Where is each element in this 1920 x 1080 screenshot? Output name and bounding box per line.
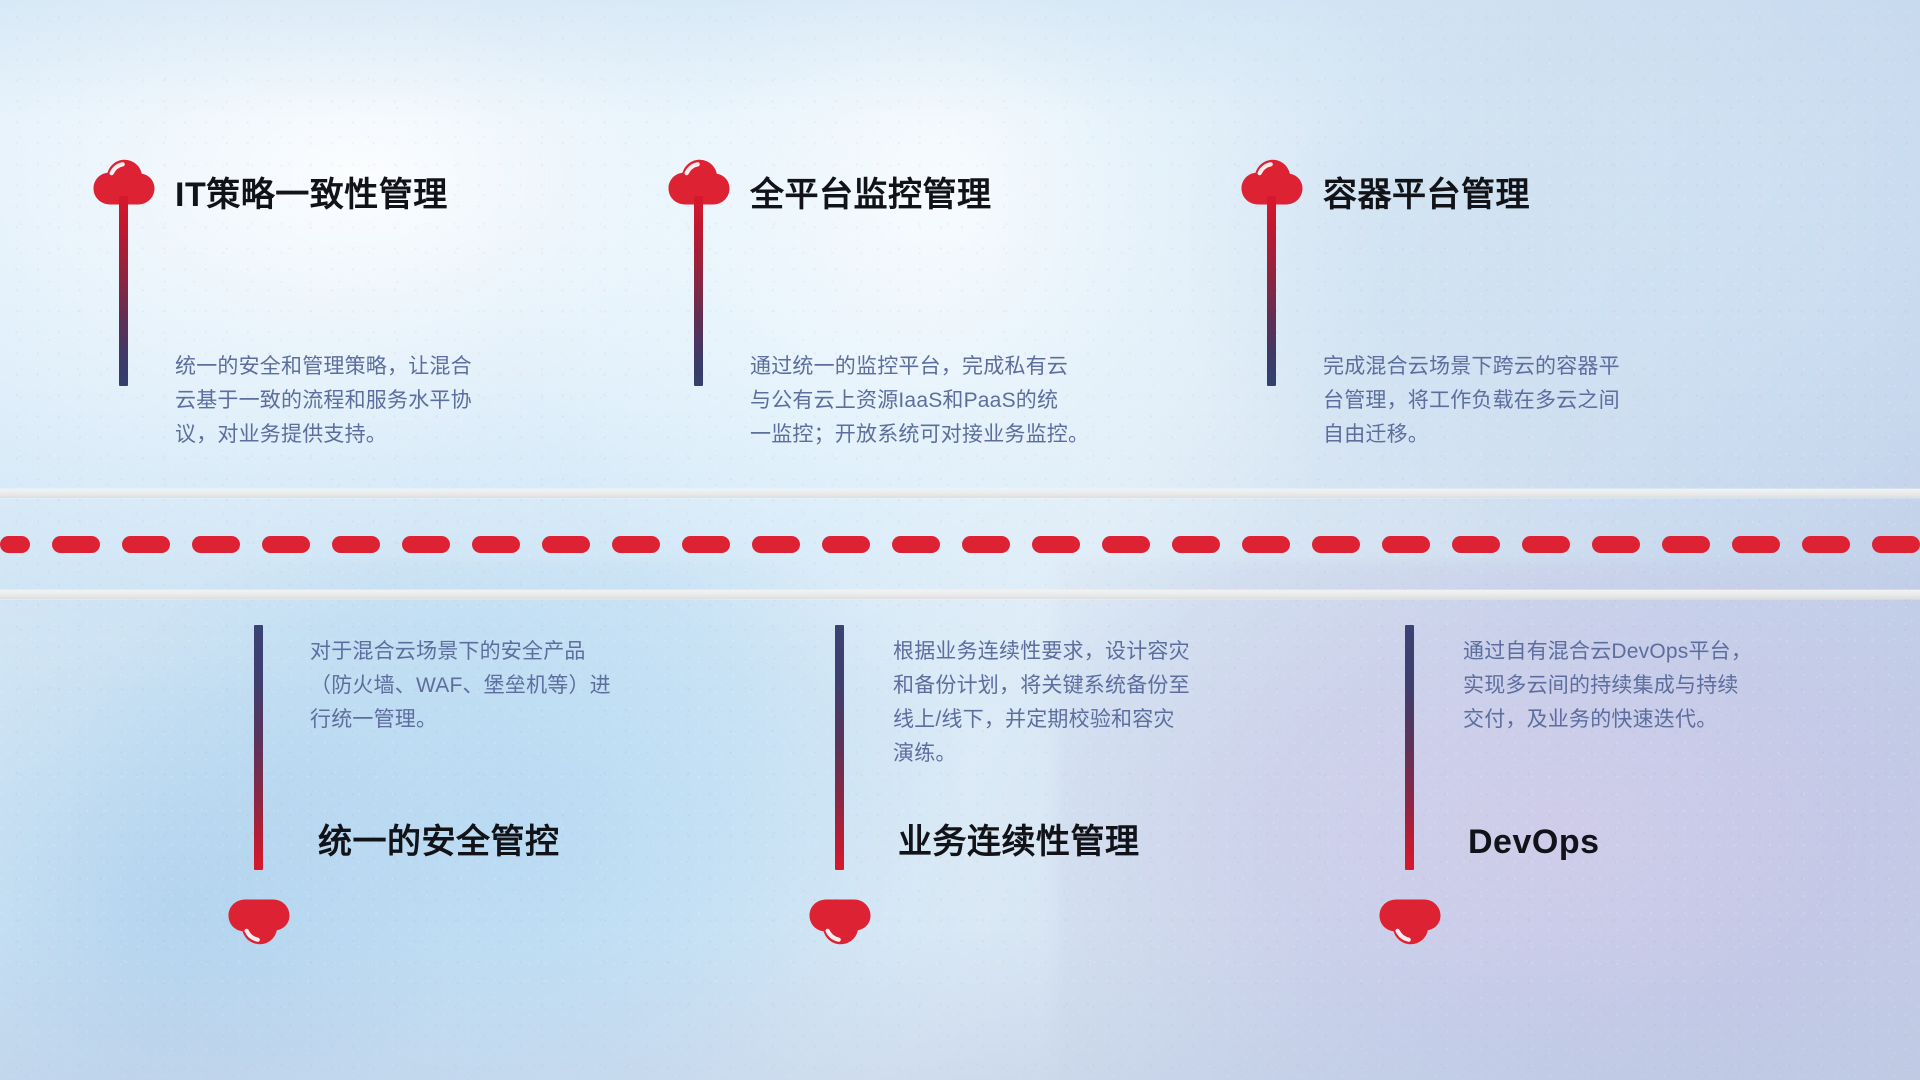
divider-dash (752, 536, 800, 553)
divider-dash (1592, 536, 1640, 553)
divider-rule-top (0, 489, 1920, 498)
divider-dash (332, 536, 380, 553)
divider-dash (0, 536, 30, 553)
bottom-item-3-description: 通过自有混合云DevOps平台， 实现多云间的持续集成与持续 交付，及业务的快速… (1463, 635, 1883, 737)
divider-dash (1872, 536, 1920, 553)
divider-dash (962, 536, 1010, 553)
divider-dashes (0, 536, 1920, 553)
divider-rule-bottom (0, 590, 1920, 599)
connector-stem (835, 625, 844, 870)
divider-dash (682, 536, 730, 553)
cloud-icon (1378, 898, 1442, 946)
divider-dash (892, 536, 940, 553)
connector-stem (254, 625, 263, 870)
connector-stem (1267, 196, 1276, 386)
top-item-2-title: 全平台监控管理 (750, 178, 992, 212)
divider-dash (1452, 536, 1500, 553)
divider-dash (1102, 536, 1150, 553)
bottom-item-2-description: 根据业务连续性要求，设计容灾 和备份计划，将关键系统备份至 线上/线下，并定期校… (893, 635, 1323, 771)
divider-dash (1382, 536, 1430, 553)
divider-dash (542, 536, 590, 553)
bottom-item-3-title: DevOps (1468, 825, 1600, 859)
divider-dash (192, 536, 240, 553)
divider-dash (612, 536, 660, 553)
divider-dash (122, 536, 170, 553)
cloud-icon (227, 898, 291, 946)
divider-dash (1312, 536, 1360, 553)
divider-dash (262, 536, 310, 553)
connector-stem (694, 196, 703, 386)
connector-stem (1405, 625, 1414, 870)
divider-dash (402, 536, 450, 553)
bottom-item-1-title: 统一的安全管控 (318, 825, 560, 859)
divider-dash (1732, 536, 1780, 553)
top-item-2-description: 通过统一的监控平台，完成私有云 与公有云上资源IaaS和PaaS的统 一监控；开… (750, 350, 1190, 452)
divider-dash (1802, 536, 1850, 553)
top-item-3-title: 容器平台管理 (1323, 178, 1530, 212)
cloud-icon (808, 898, 872, 946)
divider-dash (472, 536, 520, 553)
divider-dash (1242, 536, 1290, 553)
top-item-1-title: IT策略一致性管理 (175, 178, 448, 212)
divider-dash (1032, 536, 1080, 553)
divider-dash (1172, 536, 1220, 553)
bottom-item-1-description: 对于混合云场景下的安全产品 （防火墙、WAF、堡垒机等）进 行统一管理。 (310, 635, 740, 737)
divider-dash (822, 536, 870, 553)
connector-stem (119, 196, 128, 386)
top-item-1-description: 统一的安全和管理策略，让混合 云基于一致的流程和服务水平协 议，对业务提供支持。 (175, 350, 595, 452)
divider-dash (1522, 536, 1570, 553)
infographic-canvas: IT策略一致性管理 统一的安全和管理策略，让混合 云基于一致的流程和服务水平协 … (0, 0, 1920, 1080)
timeline-divider (0, 489, 1920, 599)
divider-dash (52, 536, 100, 553)
top-item-3-description: 完成混合云场景下跨云的容器平 台管理，将工作负载在多云之间 自由迁移。 (1323, 350, 1743, 452)
bottom-item-2-title: 业务连续性管理 (898, 825, 1140, 859)
divider-dash (1662, 536, 1710, 553)
